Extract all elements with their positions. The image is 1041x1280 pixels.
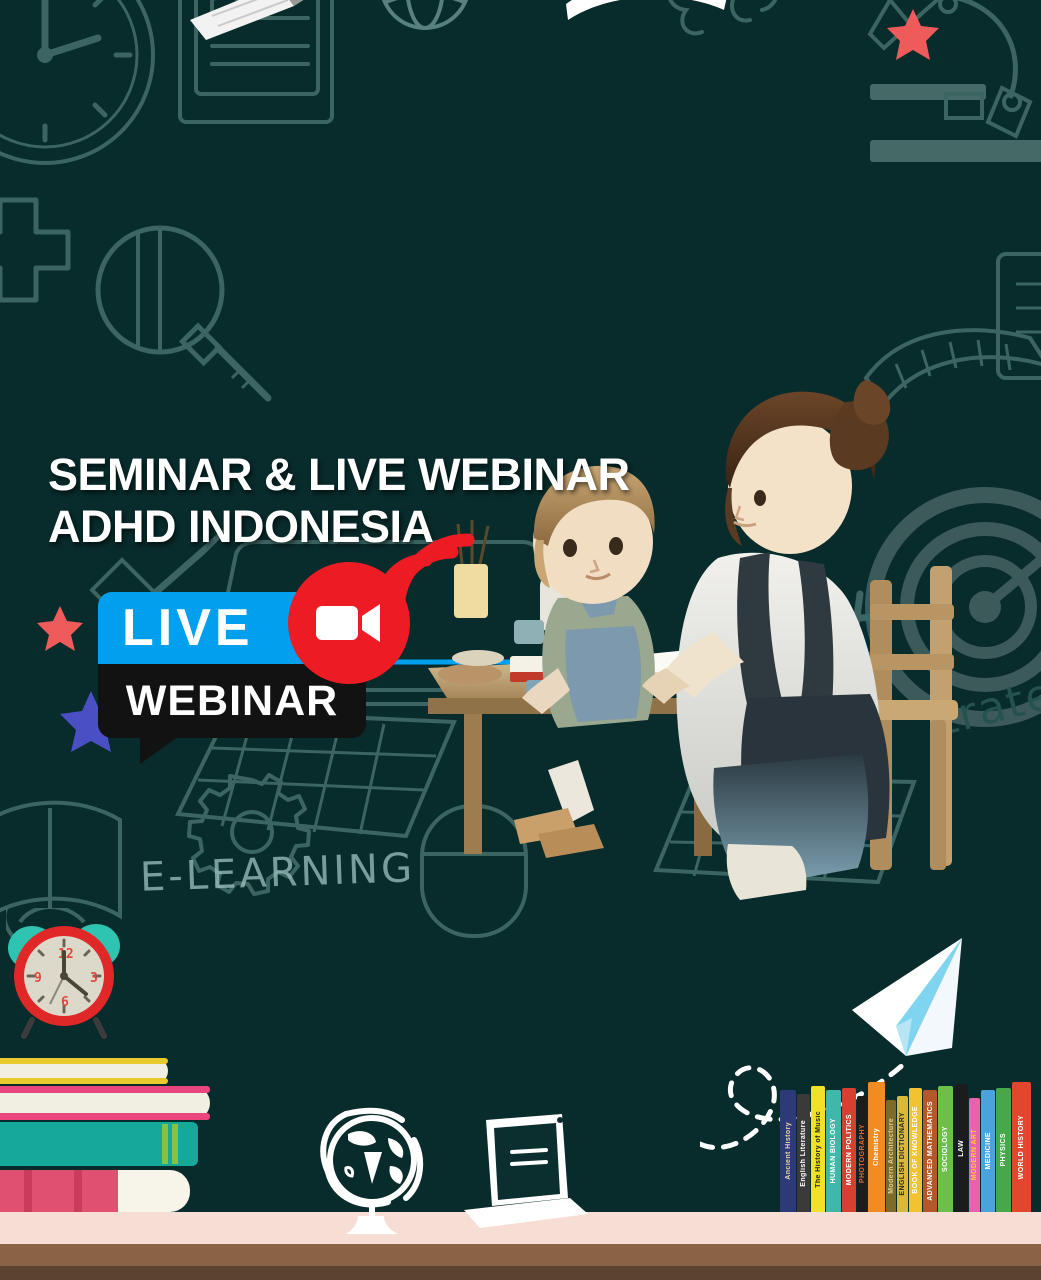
magnifier-icon [82,212,322,412]
library-book-title: Ancient History [785,1122,792,1180]
library-book: ADVANCED MATHEMATICS [923,1090,937,1212]
library-book: The History of Music [811,1086,825,1212]
globe-doodle-icon [360,0,490,56]
library-book: MEDICINE [981,1090,995,1212]
svg-text:9: 9 [34,971,42,986]
library-book: MODERN POLITICS [842,1088,856,1212]
brain-icon [640,0,870,108]
pink-book [0,1086,210,1120]
open-book-doodle-icon [556,0,736,34]
svg-text:6: 6 [61,995,69,1010]
alarm-clock-icon: 123 69 [6,908,166,1068]
library-book: MODERN ART [969,1098,980,1212]
clipboard-icon [168,0,348,134]
library-book-title: WORLD HISTORY [1018,1115,1025,1179]
svg-text:3: 3 [90,971,98,986]
library-book: WORLD HISTORY [1012,1082,1031,1212]
library-book-title: ENGLISH DICTIONARY [899,1112,906,1196]
library-book: HUMAN BIOLOGY [826,1090,841,1212]
microscope-icon [860,0,1041,190]
live-webinar-badge[interactable]: LIVE WEBINAR [98,592,366,738]
globe-icon [310,1106,440,1236]
library-book: ENGLISH DICTIONARY [897,1096,908,1212]
speech-bubble-tail [140,734,182,764]
pencil-icon [182,0,322,56]
library-book-title: PHOTOGRAPHY [859,1124,866,1183]
library-book-title: The History of Music [815,1111,822,1188]
library-book-title: Modern Architecture [888,1118,895,1194]
wall-clock-icon [0,0,160,170]
library-book-title: MODERN ART [971,1129,978,1180]
library-book-title: HUMAN BIOLOGY [830,1118,837,1183]
woman-figure [642,380,890,900]
shelf-body [0,1244,1041,1266]
library-book-title: LAW [958,1140,965,1157]
elearning-watermark-text: E-LEARNING [139,845,416,901]
library-book: LAW [954,1084,968,1212]
library-book: PHYSICS [996,1088,1011,1212]
library-book: English Literature [797,1094,810,1212]
video-camera-icon[interactable] [288,562,410,684]
library-book: Chemistry [868,1082,885,1212]
library-book: PHOTOGRAPHY [857,1096,867,1212]
star-icon [885,6,941,62]
library-book: BOOK OF KNOWLEDGE [909,1088,922,1212]
library-book: Ancient History [780,1090,796,1212]
library-book-title: MEDICINE [985,1132,992,1169]
library-book-title: English Literature [800,1120,807,1187]
library-book: SOCIOLOGY [938,1086,953,1212]
shelf-base [0,1266,1041,1280]
library-book-title: Chemistry [873,1128,880,1166]
plus-icon [0,190,80,310]
library-book: Modern Architecture [886,1100,896,1212]
library-book-title: MODERN POLITICS [846,1114,853,1185]
teal-book [0,1122,198,1166]
star-red-icon [36,604,84,652]
library-book-title: BOOK OF KNOWLEDGE [912,1106,919,1194]
library-book-title: SOCIOLOGY [942,1126,949,1172]
webinar-poster: trategi [0,0,1041,1280]
note-icon [992,248,1041,388]
library-book-title: ADVANCED MATHEMATICS [927,1101,934,1201]
library-book-title: PHYSICS [1000,1133,1007,1167]
webinar-label: WEBINAR [126,680,338,723]
rose-book [0,1170,190,1212]
yellow-book [0,1058,168,1084]
headline-line-2: ADHD INDONESIA [48,501,630,552]
library-book-row: Ancient HistoryEnglish LiteratureThe His… [780,1082,1032,1212]
live-label: LIVE [122,602,254,654]
tablet-icon [450,1110,600,1240]
headline-line-1: SEMINAR & LIVE WEBINAR [48,449,630,500]
